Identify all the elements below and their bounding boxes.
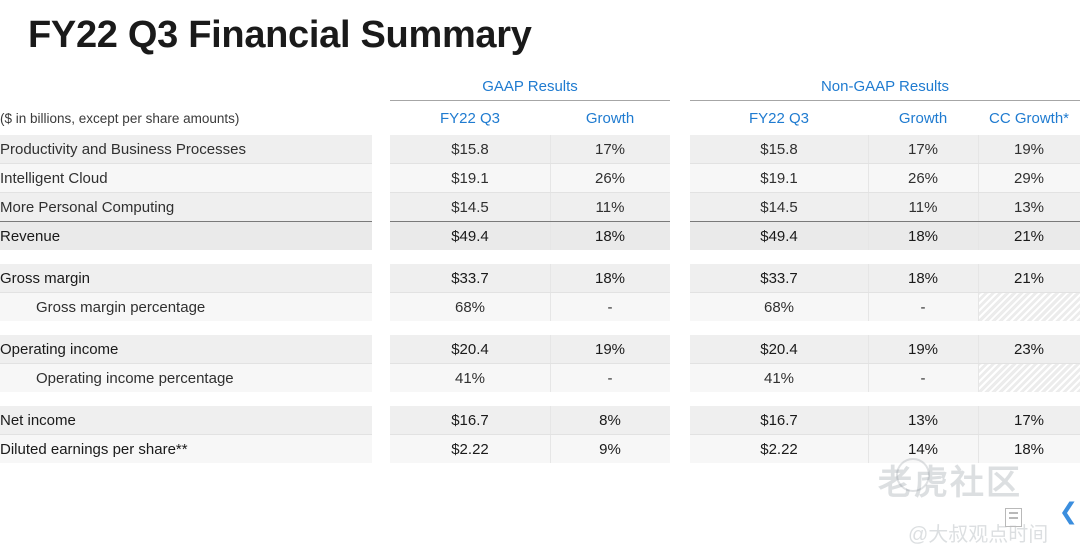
table-row: More Personal Computing $14.5 11% $14.5 … [0, 193, 1080, 222]
cell-gaap-value: $33.7 [390, 264, 550, 293]
spacer-cell [390, 392, 550, 406]
row-gap-2 [670, 264, 690, 293]
cell-non-gaap-growth: - [868, 364, 978, 393]
cell-non-gaap-value: 68% [690, 293, 868, 322]
row-gap-1 [372, 406, 390, 435]
cell-gaap-growth: 19% [550, 335, 670, 364]
row-label-operating-income-percentage: Operating income percentage [0, 364, 372, 393]
row-label-gross-margin-percentage: Gross margin percentage [0, 293, 372, 322]
row-gap-1 [372, 135, 390, 164]
spacer-cell [550, 392, 670, 406]
spacer-cell [0, 392, 372, 406]
group-header-gaap: GAAP Results [390, 72, 670, 100]
row-gap-2 [670, 435, 690, 464]
cell-non-gaap-cc-growth: 29% [978, 164, 1080, 193]
cell-non-gaap-value: $49.4 [690, 222, 868, 251]
cell-gaap-value: 68% [390, 293, 550, 322]
column-header-row: ($ in billions, except per share amounts… [0, 101, 1080, 135]
table-row: Diluted earnings per share** $2.22 9% $2… [0, 435, 1080, 464]
cell-gaap-value: $20.4 [390, 335, 550, 364]
row-label-productivity: Productivity and Business Processes [0, 135, 372, 164]
cell-non-gaap-value: $2.22 [690, 435, 868, 464]
cell-gaap-growth: 8% [550, 406, 670, 435]
cell-gaap-growth: - [550, 293, 670, 322]
table-row: Gross margin percentage 68% - 68% - [0, 293, 1080, 322]
cell-gaap-value: $49.4 [390, 222, 550, 251]
page-title: FY22 Q3 Financial Summary [28, 14, 532, 57]
header-gap-1 [372, 101, 390, 135]
group-header-spacer [0, 72, 372, 100]
watermark-logo-icon [896, 458, 930, 492]
cell-non-gaap-growth: 11% [868, 193, 978, 222]
cell-gaap-growth: 26% [550, 164, 670, 193]
row-gap-2 [670, 222, 690, 251]
spacer-cell [868, 392, 978, 406]
spacer-cell [978, 392, 1080, 406]
row-label-intelligent-cloud: Intelligent Cloud [0, 164, 372, 193]
spacer-cell [390, 250, 550, 264]
table-row: Intelligent Cloud $19.1 26% $19.1 26% 29… [0, 164, 1080, 193]
cell-non-gaap-value: $20.4 [690, 335, 868, 364]
summary-table: GAAP Results Non-GAAP Results ($ in bill… [0, 72, 1080, 463]
row-gap-2 [670, 364, 690, 393]
block-spacer [0, 392, 1080, 406]
cell-non-gaap-growth: 18% [868, 264, 978, 293]
spacer-cell [372, 250, 390, 264]
cell-non-gaap-cc-growth-not-applicable [978, 293, 1080, 322]
spacer-cell [868, 250, 978, 264]
cell-non-gaap-cc-growth: 13% [978, 193, 1080, 222]
table-row: Net income $16.7 8% $16.7 13% 17% [0, 406, 1080, 435]
spacer-cell [0, 250, 372, 264]
cell-gaap-value: 41% [390, 364, 550, 393]
table-row: Operating income percentage 41% - 41% - [0, 364, 1080, 393]
cell-gaap-value: $15.8 [390, 135, 550, 164]
header-gap-2 [670, 101, 690, 135]
spacer-cell [690, 250, 868, 264]
cell-non-gaap-growth: 17% [868, 135, 978, 164]
row-label-net-income: Net income [0, 406, 372, 435]
cell-non-gaap-value: $19.1 [690, 164, 868, 193]
row-gap-2 [670, 335, 690, 364]
cell-gaap-value: $2.22 [390, 435, 550, 464]
spacer-cell [372, 321, 390, 335]
group-header-non-gaap: Non-GAAP Results [690, 72, 1080, 100]
row-gap-1 [372, 164, 390, 193]
column-header-non-gaap-growth: Growth [868, 101, 978, 135]
cell-gaap-value: $14.5 [390, 193, 550, 222]
cell-non-gaap-growth: 18% [868, 222, 978, 251]
row-gap-2 [670, 406, 690, 435]
group-gap-1 [372, 72, 390, 100]
cell-gaap-growth: 18% [550, 222, 670, 251]
financial-summary-table: GAAP Results Non-GAAP Results ($ in bill… [0, 72, 1080, 463]
spacer-cell [978, 321, 1080, 335]
block-spacer [0, 321, 1080, 335]
table-row: Operating income $20.4 19% $20.4 19% 23% [0, 335, 1080, 364]
watermark-secondary: @大叔观点时间 [908, 518, 1048, 547]
block-spacer [0, 250, 1080, 264]
cell-non-gaap-value: $15.8 [690, 135, 868, 164]
column-header-gaap-growth: Growth [550, 101, 670, 135]
column-header-non-gaap-cc-growth: CC Growth* [978, 101, 1080, 135]
row-label-more-personal-computing: More Personal Computing [0, 193, 372, 222]
row-gap-2 [670, 293, 690, 322]
cell-non-gaap-growth: 14% [868, 435, 978, 464]
cell-gaap-growth: 11% [550, 193, 670, 222]
cell-non-gaap-cc-growth: 19% [978, 135, 1080, 164]
cell-non-gaap-growth: 19% [868, 335, 978, 364]
cell-non-gaap-cc-growth-not-applicable [978, 364, 1080, 393]
cell-non-gaap-cc-growth: 18% [978, 435, 1080, 464]
row-gap-2 [670, 164, 690, 193]
cell-gaap-growth: 18% [550, 264, 670, 293]
cell-gaap-value: $16.7 [390, 406, 550, 435]
row-gap-1 [372, 335, 390, 364]
cell-non-gaap-value: $33.7 [690, 264, 868, 293]
spacer-cell [550, 321, 670, 335]
table-row-total: Revenue $49.4 18% $49.4 18% 21% [0, 222, 1080, 251]
spacer-cell [670, 321, 690, 335]
row-gap-1 [372, 264, 390, 293]
cell-non-gaap-cc-growth: 17% [978, 406, 1080, 435]
spacer-cell [690, 392, 868, 406]
cell-non-gaap-value: $16.7 [690, 406, 868, 435]
row-label-revenue: Revenue [0, 222, 372, 251]
cell-non-gaap-cc-growth: 21% [978, 222, 1080, 251]
row-gap-1 [372, 435, 390, 464]
cell-non-gaap-cc-growth: 21% [978, 264, 1080, 293]
row-label-diluted-eps: Diluted earnings per share** [0, 435, 372, 464]
cell-non-gaap-growth: - [868, 293, 978, 322]
row-gap-1 [372, 364, 390, 393]
cell-non-gaap-cc-growth: 23% [978, 335, 1080, 364]
spacer-cell [670, 392, 690, 406]
cell-gaap-growth: - [550, 364, 670, 393]
group-gap-2 [670, 72, 690, 100]
spacer-cell [868, 321, 978, 335]
row-label-operating-income: Operating income [0, 335, 372, 364]
spacer-cell [0, 321, 372, 335]
cell-gaap-value: $19.1 [390, 164, 550, 193]
cell-non-gaap-growth: 26% [868, 164, 978, 193]
spacer-cell [978, 250, 1080, 264]
spacer-cell [372, 392, 390, 406]
cell-non-gaap-value: $14.5 [690, 193, 868, 222]
cell-non-gaap-value: 41% [690, 364, 868, 393]
group-header-row: GAAP Results Non-GAAP Results [0, 72, 1080, 100]
row-gap-2 [670, 193, 690, 222]
spacer-cell [390, 321, 550, 335]
row-gap-1 [372, 293, 390, 322]
cell-gaap-growth: 9% [550, 435, 670, 464]
column-header-gaap-value: FY22 Q3 [390, 101, 550, 135]
units-caption: ($ in billions, except per share amounts… [0, 101, 372, 135]
spacer-cell [670, 250, 690, 264]
row-gap-1 [372, 193, 390, 222]
spacer-cell [690, 321, 868, 335]
cell-non-gaap-growth: 13% [868, 406, 978, 435]
cell-gaap-growth: 17% [550, 135, 670, 164]
row-gap-2 [670, 135, 690, 164]
row-label-gross-margin: Gross margin [0, 264, 372, 293]
chevron-left-icon[interactable]: ❮ [1059, 500, 1078, 523]
table-row: Productivity and Business Processes $15.… [0, 135, 1080, 164]
row-gap-1 [372, 222, 390, 251]
document-icon [1005, 508, 1022, 527]
table-row: Gross margin $33.7 18% $33.7 18% 21% [0, 264, 1080, 293]
spacer-cell [550, 250, 670, 264]
column-header-non-gaap-value: FY22 Q3 [690, 101, 868, 135]
